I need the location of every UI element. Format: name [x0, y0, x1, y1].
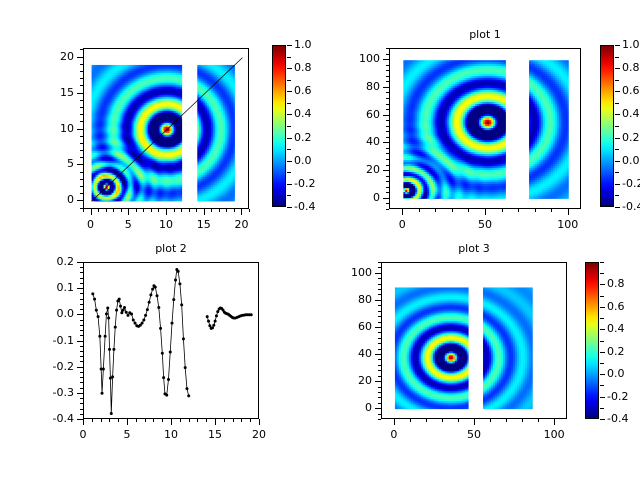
colorbar-tick — [600, 374, 605, 375]
ytick-minor — [378, 419, 381, 420]
colorbar-label-3: 0.2 — [607, 345, 625, 358]
ytick-minor — [378, 376, 381, 377]
ytick-minor — [378, 305, 381, 306]
xtick-minor — [442, 419, 443, 422]
ytick-major — [375, 408, 381, 409]
xtick-minor — [490, 419, 491, 422]
xtick-major — [554, 419, 555, 425]
ytick-minor — [378, 365, 381, 366]
ytick-minor — [378, 311, 381, 312]
ytick-minor — [378, 387, 381, 388]
heatmap-image-bottom-right — [382, 263, 567, 419]
ytick-minor — [378, 289, 381, 290]
chart-title-bottom-right: plot 3 — [414, 242, 534, 255]
ytick-major — [375, 300, 381, 301]
ytick-minor — [378, 338, 381, 339]
ytick-minor — [378, 349, 381, 350]
colorbar-label-2: 0.0 — [607, 367, 625, 380]
colorbar-tick — [600, 329, 605, 330]
xtick-major — [394, 419, 395, 425]
colorbar-label-4: 0.4 — [607, 322, 625, 335]
ytick-minor — [378, 322, 381, 323]
colorbar-tick — [600, 284, 605, 285]
ytick-minor — [378, 343, 381, 344]
colorbar-tick-minor — [600, 296, 604, 297]
ytick-label-2: 40 — [321, 347, 372, 360]
colorbar-tick-minor — [600, 262, 604, 263]
colorbar-tick — [600, 397, 605, 398]
ytick-minor — [378, 267, 381, 268]
ytick-major — [375, 327, 381, 328]
heatmap-patch-right — [483, 287, 533, 409]
colorbar-bottom-right — [585, 262, 599, 419]
xtick-major — [474, 419, 475, 425]
ytick-label-5: 100 — [321, 266, 372, 279]
ytick-minor — [378, 316, 381, 317]
plot-area-bottom-right — [381, 262, 567, 419]
ytick-label-0: 0 — [321, 401, 372, 414]
panel-bottom-right: plot 3050100020406080100-0.4-0.20.00.20.… — [0, 0, 640, 480]
ytick-minor — [378, 284, 381, 285]
ytick-minor — [378, 278, 381, 279]
xtick-minor — [410, 419, 411, 422]
ytick-major — [375, 381, 381, 382]
colorbar-tick — [600, 307, 605, 308]
ytick-major — [375, 273, 381, 274]
ytick-label-1: 20 — [321, 374, 372, 387]
colorbar-label-1: -0.2 — [607, 390, 628, 403]
heatmap-patch-left — [395, 287, 469, 409]
ytick-minor — [378, 414, 381, 415]
ytick-minor — [378, 370, 381, 371]
colorbar-label-5: 0.6 — [607, 300, 625, 313]
figure-canvas: 0510152005101520-0.4-0.20.00.20.40.60.81… — [0, 0, 640, 480]
ytick-major — [375, 354, 381, 355]
ytick-label-3: 60 — [321, 320, 372, 333]
ytick-minor — [378, 359, 381, 360]
colorbar-tick — [600, 352, 605, 353]
xtick-minor — [506, 419, 507, 422]
xtick-minor — [458, 419, 459, 422]
xtick-minor — [426, 419, 427, 422]
ytick-minor — [378, 397, 381, 398]
xtick-label-1: 50 — [449, 428, 499, 441]
ytick-minor — [378, 403, 381, 404]
colorbar-tick — [600, 419, 605, 420]
colorbar-tick-minor — [600, 408, 604, 409]
xtick-minor — [522, 419, 523, 422]
ytick-minor — [378, 392, 381, 393]
colorbar-tick-minor — [600, 341, 604, 342]
colorbar-tick-minor — [600, 385, 604, 386]
colorbar-label-6: 0.8 — [607, 277, 625, 290]
colorbar-tick-minor — [600, 273, 604, 274]
xtick-minor — [538, 419, 539, 422]
colorbar-label-0: -0.4 — [607, 412, 628, 425]
colorbar-tick-minor — [600, 318, 604, 319]
xtick-label-0: 0 — [369, 428, 419, 441]
ytick-minor — [378, 262, 381, 263]
ytick-label-4: 80 — [321, 293, 372, 306]
colorbar-tick-minor — [600, 363, 604, 364]
ytick-minor — [378, 294, 381, 295]
ytick-minor — [378, 332, 381, 333]
xtick-label-2: 100 — [529, 428, 579, 441]
